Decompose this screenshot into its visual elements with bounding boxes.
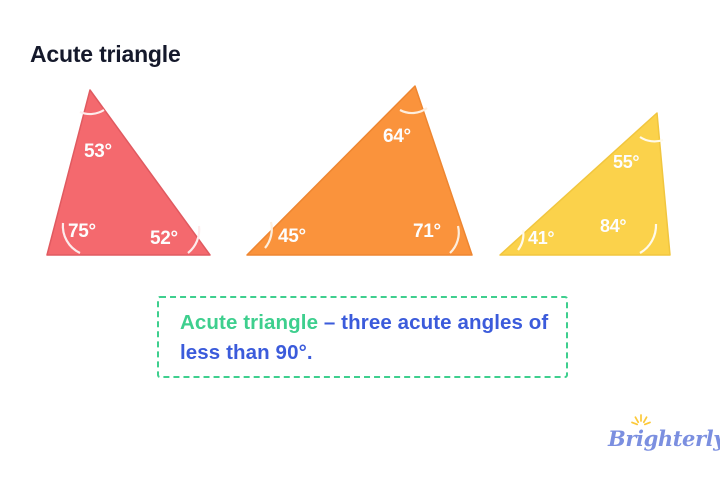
yellow-triangle-shape: [500, 113, 670, 255]
brighterly-wordmark: Brighterly: [608, 426, 720, 451]
definition-text: Acute triangle – three acute angles of l…: [180, 308, 554, 368]
diagram-canvas: Acute triangle 53° 75° 52° 64° 45° 71° 5…: [0, 0, 720, 480]
brighterly-logo: Brighterly: [608, 414, 700, 454]
yellow-triangle: [0, 0, 720, 480]
definition-term: Acute triangle: [180, 311, 318, 334]
yellow-apex-angle-label: 55°: [613, 152, 639, 173]
definition-callout-box: Acute triangle – three acute angles of l…: [157, 296, 568, 378]
yellow-bottom-left-angle-label: 41°: [528, 228, 554, 249]
yellow-bottom-right-angle-label: 84°: [600, 216, 626, 237]
